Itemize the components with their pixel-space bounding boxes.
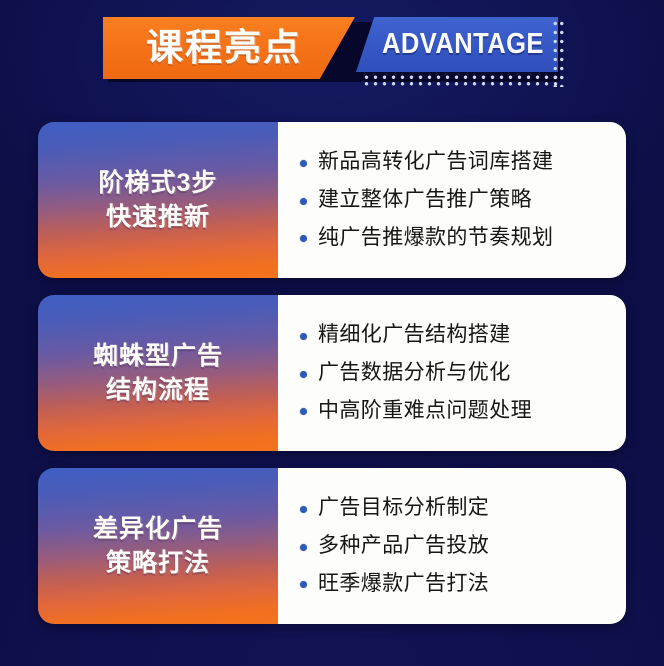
- bullet-label: 广告目标分析制定: [318, 494, 489, 522]
- bullet-label: 旺季爆款广告打法: [318, 570, 489, 598]
- feature-card: 蜘蛛型广告 结构流程 精细化广告结构搭建 广告数据分析与优化 中高阶重难点问题处…: [38, 295, 626, 451]
- bullet-dot-icon: [300, 235, 307, 242]
- card-bullets-panel: 广告目标分析制定 多种产品广告投放 旺季爆款广告打法: [278, 468, 626, 624]
- list-item: 新品高转化广告词库搭建: [300, 148, 626, 176]
- bullet-dot-icon: [300, 408, 307, 415]
- dot-pattern-bottom: [362, 74, 560, 87]
- bullet-label: 广告数据分析与优化: [318, 359, 511, 387]
- card-bullets-panel: 新品高转化广告词库搭建 建立整体广告推广策略 纯广告推爆款的节奏规划: [278, 122, 626, 278]
- card-title-panel: 阶梯式3步 快速推新: [38, 122, 278, 278]
- card-title-line1: 蜘蛛型广告: [93, 339, 223, 374]
- header-title-en: ADVANTAGE: [382, 30, 544, 59]
- bullet-label: 新品高转化广告词库搭建: [318, 148, 553, 176]
- bullet-dot-icon: [300, 160, 307, 167]
- card-title-line2: 结构流程: [106, 373, 210, 408]
- bullet-dot-icon: [300, 581, 307, 588]
- card-title-panel: 差异化广告 策略打法: [38, 468, 278, 624]
- card-title-panel: 蜘蛛型广告 结构流程: [38, 295, 278, 451]
- card-title-line1: 阶梯式3步: [99, 166, 218, 201]
- card-bullets-panel: 精细化广告结构搭建 广告数据分析与优化 中高阶重难点问题处理: [278, 295, 626, 451]
- bullet-label: 建立整体广告推广策略: [318, 186, 532, 214]
- bullet-label: 精细化广告结构搭建: [318, 321, 511, 349]
- dot-pattern-right: [552, 19, 565, 87]
- bullet-dot-icon: [300, 198, 307, 205]
- feature-card: 差异化广告 策略打法 广告目标分析制定 多种产品广告投放 旺季爆款广告打法: [38, 468, 626, 624]
- list-item: 旺季爆款广告打法: [300, 570, 626, 598]
- bullet-label: 纯广告推爆款的节奏规划: [318, 224, 553, 252]
- list-item: 中高阶重难点问题处理: [300, 397, 626, 425]
- bullet-dot-icon: [300, 544, 307, 551]
- card-title-line2: 快速推新: [106, 200, 210, 235]
- list-item: 广告数据分析与优化: [300, 359, 626, 387]
- bullet-dot-icon: [300, 506, 307, 513]
- poster-root: 课程亮点 ADVANTAGE 阶梯式3步 快速推新 新品高转化广告词库搭建 建立…: [0, 0, 664, 666]
- bullet-label: 中高阶重难点问题处理: [318, 397, 532, 425]
- bullet-dot-icon: [300, 371, 307, 378]
- header-blue-panel: ADVANTAGE: [356, 17, 558, 72]
- feature-card: 阶梯式3步 快速推新 新品高转化广告词库搭建 建立整体广告推广策略 纯广告推爆款…: [38, 122, 626, 278]
- list-item: 多种产品广告投放: [300, 532, 626, 560]
- card-title-line1: 差异化广告: [93, 512, 223, 547]
- header-orange-panel: 课程亮点: [103, 17, 355, 79]
- bullet-dot-icon: [300, 333, 307, 340]
- list-item: 广告目标分析制定: [300, 494, 626, 522]
- card-title-line2: 策略打法: [106, 546, 210, 581]
- list-item: 纯广告推爆款的节奏规划: [300, 224, 626, 252]
- list-item: 建立整体广告推广策略: [300, 186, 626, 214]
- header-banner: 课程亮点 ADVANTAGE: [0, 0, 664, 104]
- bullet-label: 多种产品广告投放: [318, 532, 489, 560]
- list-item: 精细化广告结构搭建: [300, 321, 626, 349]
- header-title-cn: 课程亮点: [146, 29, 302, 66]
